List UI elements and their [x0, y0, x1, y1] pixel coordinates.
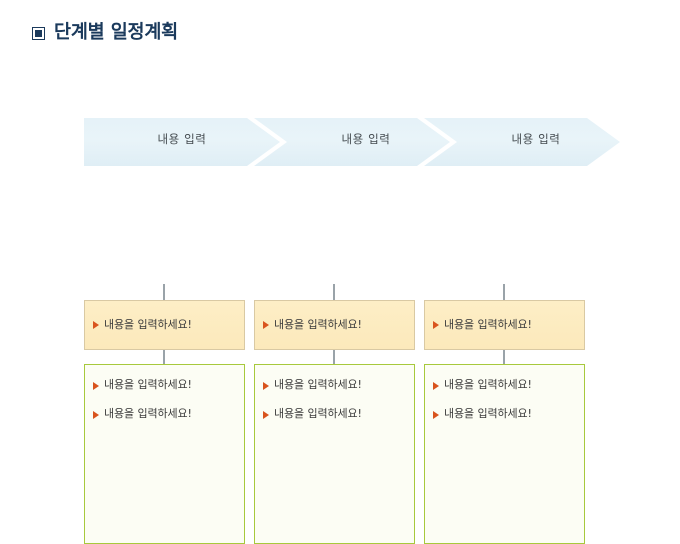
- list-item: 내용을 입력하세요!: [93, 319, 192, 331]
- arrow-bullet-icon: [433, 382, 439, 390]
- phase-box-2[interactable]: 내용을 입력하세요!: [254, 300, 415, 350]
- detail-box-2[interactable]: 내용을 입력하세요! 내용을 입력하세요!: [254, 364, 415, 544]
- arrow-bullet-icon: [93, 411, 99, 419]
- phase-text-2: 내용을 입력하세요!: [274, 319, 362, 331]
- stage-banner-label-3: 내용 입력: [512, 134, 561, 146]
- process-flow-diagram: 내용 입력 내용을 입력하세요! 내용을 입력하세요! 내용을 입력하세요!: [0, 0, 680, 510]
- detail-text-2-1: 내용을 입력하세요!: [274, 379, 362, 391]
- phase-box-3[interactable]: 내용을 입력하세요!: [424, 300, 585, 350]
- detail-text-3-2: 내용을 입력하세요!: [444, 408, 532, 420]
- detail-box-1[interactable]: 내용을 입력하세요! 내용을 입력하세요!: [84, 364, 245, 544]
- arrow-bullet-icon: [93, 321, 99, 329]
- stage-column-1: 내용 입력 내용을 입력하세요! 내용을 입력하세요! 내용을 입력하세요!: [84, 118, 264, 166]
- list-item: 내용을 입력하세요!: [93, 408, 236, 420]
- list-item: 내용을 입력하세요!: [93, 379, 236, 391]
- list-item: 내용을 입력하세요!: [433, 319, 532, 331]
- connector-phase-to-detail-1: [163, 350, 165, 364]
- chevron-shape-2: 내용 입력: [254, 118, 450, 166]
- connector-banner-to-phase-3: [503, 284, 505, 300]
- list-item: 내용을 입력하세요!: [263, 379, 406, 391]
- arrow-bullet-icon: [263, 382, 269, 390]
- list-item: 내용을 입력하세요!: [263, 408, 406, 420]
- connector-phase-to-detail-2: [333, 350, 335, 364]
- phase-text-1: 내용을 입력하세요!: [104, 319, 192, 331]
- arrow-bullet-icon: [433, 321, 439, 329]
- stage-column-2: 내용 입력 내용을 입력하세요! 내용을 입력하세요! 내용을 입력하세요!: [254, 118, 434, 166]
- stage-banner-label-2: 내용 입력: [342, 134, 391, 146]
- arrow-bullet-icon: [93, 382, 99, 390]
- list-item: 내용을 입력하세요!: [433, 379, 576, 391]
- chevron-shape-1: 내용 입력: [84, 118, 280, 166]
- stage-banner-3[interactable]: 내용 입력: [424, 118, 620, 166]
- chevron-shape-3: 내용 입력: [424, 118, 620, 166]
- connector-phase-to-detail-3: [503, 350, 505, 364]
- detail-text-1-2: 내용을 입력하세요!: [104, 408, 192, 420]
- stage-banner-1[interactable]: 내용 입력: [84, 118, 280, 166]
- connector-banner-to-phase-1: [163, 284, 165, 300]
- detail-text-1-1: 내용을 입력하세요!: [104, 379, 192, 391]
- connector-banner-to-phase-2: [333, 284, 335, 300]
- phase-text-3: 내용을 입력하세요!: [444, 319, 532, 331]
- arrow-bullet-icon: [263, 321, 269, 329]
- detail-box-3[interactable]: 내용을 입력하세요! 내용을 입력하세요!: [424, 364, 585, 544]
- list-item: 내용을 입력하세요!: [433, 408, 576, 420]
- detail-text-2-2: 내용을 입력하세요!: [274, 408, 362, 420]
- stage-banner-2[interactable]: 내용 입력: [254, 118, 450, 166]
- list-item: 내용을 입력하세요!: [263, 319, 362, 331]
- arrow-bullet-icon: [263, 411, 269, 419]
- detail-text-3-1: 내용을 입력하세요!: [444, 379, 532, 391]
- stage-column-3: 내용 입력 내용을 입력하세요! 내용을 입력하세요! 내용을 입력하세요!: [424, 118, 604, 166]
- phase-box-1[interactable]: 내용을 입력하세요!: [84, 300, 245, 350]
- stage-banner-label-1: 내용 입력: [158, 134, 207, 146]
- arrow-bullet-icon: [433, 411, 439, 419]
